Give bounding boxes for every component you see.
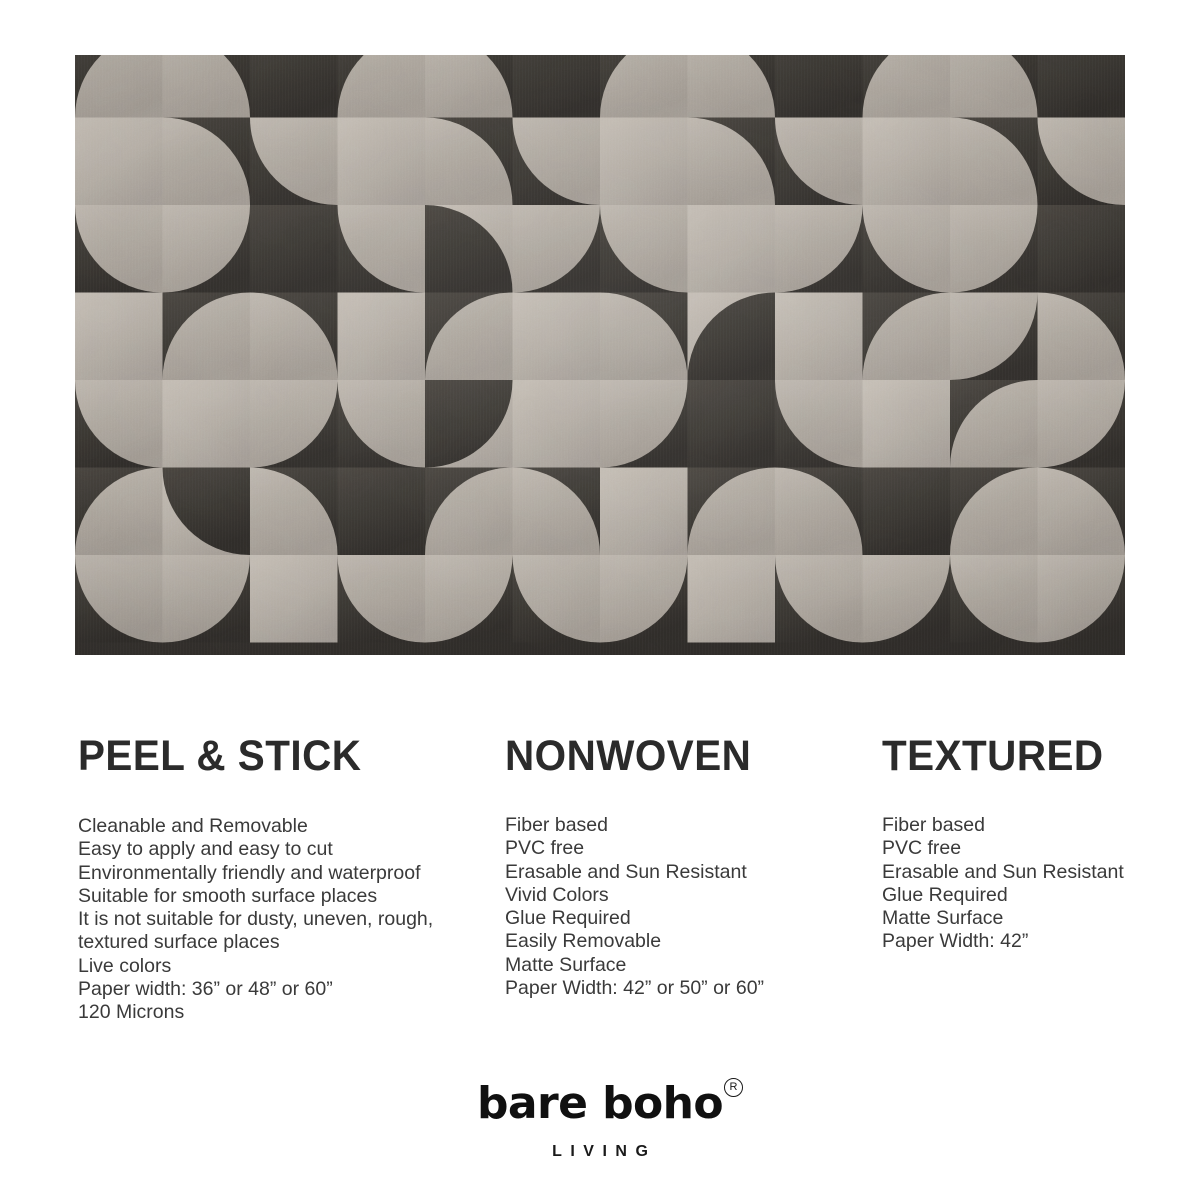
spec-item: Environmentally friendly and waterproof <box>78 862 450 885</box>
spec-item: Glue Required <box>505 907 865 930</box>
spec-item: Paper Width: 42” or 50” or 60” <box>505 977 865 1000</box>
spec-item: Cleanable and Removable <box>78 815 450 838</box>
spec-item: Fiber based <box>882 814 1182 837</box>
registered-trademark-icon: R <box>724 1078 743 1097</box>
brand-wordmark: bare boho <box>477 1082 723 1126</box>
spec-list-nonwoven: Fiber based PVC free Erasable and Sun Re… <box>505 814 865 1000</box>
spec-item: Easily Removable <box>505 930 865 953</box>
spec-columns: PEEL & STICK Cleanable and Removable Eas… <box>0 735 1200 1035</box>
wallpaper-hero-image <box>75 55 1125 655</box>
spec-list-peel-and-stick: Cleanable and Removable Easy to apply an… <box>78 815 478 1025</box>
spec-item: Suitable for smooth surface places <box>78 885 450 908</box>
spec-heading-nonwoven: NONWOVEN <box>505 735 843 778</box>
spec-column-peel-and-stick: PEEL & STICK Cleanable and Removable Eas… <box>78 735 478 1025</box>
spec-list-textured: Fiber based PVC free Erasable and Sun Re… <box>882 814 1182 954</box>
spec-item: Easy to apply and easy to cut <box>78 838 450 861</box>
spec-item: Glue Required <box>882 884 1182 907</box>
spec-column-nonwoven: NONWOVEN Fiber based PVC free Erasable a… <box>505 735 865 1000</box>
spec-item: Erasable and Sun Resistant <box>505 861 865 884</box>
spec-item: Paper Width: 42” <box>882 930 1182 953</box>
brand-logo: bare boho R LIVING <box>0 1082 1200 1161</box>
spec-item: Live colors <box>78 955 450 978</box>
spec-item: 120 Microns <box>78 1001 450 1024</box>
spec-heading-textured: TEXTURED <box>882 735 1164 778</box>
spec-item: Paper width: 36” or 48” or 60” <box>78 978 450 1001</box>
spec-item: Vivid Colors <box>505 884 865 907</box>
brand-wordmark-wrap: bare boho R <box>477 1082 723 1126</box>
spec-heading-peel-and-stick: PEEL & STICK <box>78 735 454 778</box>
spec-item: Matte Surface <box>505 954 865 977</box>
spec-item: PVC free <box>882 837 1182 860</box>
spec-item: PVC free <box>505 837 865 860</box>
wallpaper-pattern-graphic <box>75 55 1125 655</box>
spec-item: Fiber based <box>505 814 865 837</box>
spec-item: It is not suitable for dusty, uneven, ro… <box>78 908 450 955</box>
spec-item: Erasable and Sun Resistant <box>882 861 1182 884</box>
spec-item: Matte Surface <box>882 907 1182 930</box>
brand-tagline: LIVING <box>0 1143 1200 1161</box>
spec-column-textured: TEXTURED Fiber based PVC free Erasable a… <box>882 735 1182 954</box>
